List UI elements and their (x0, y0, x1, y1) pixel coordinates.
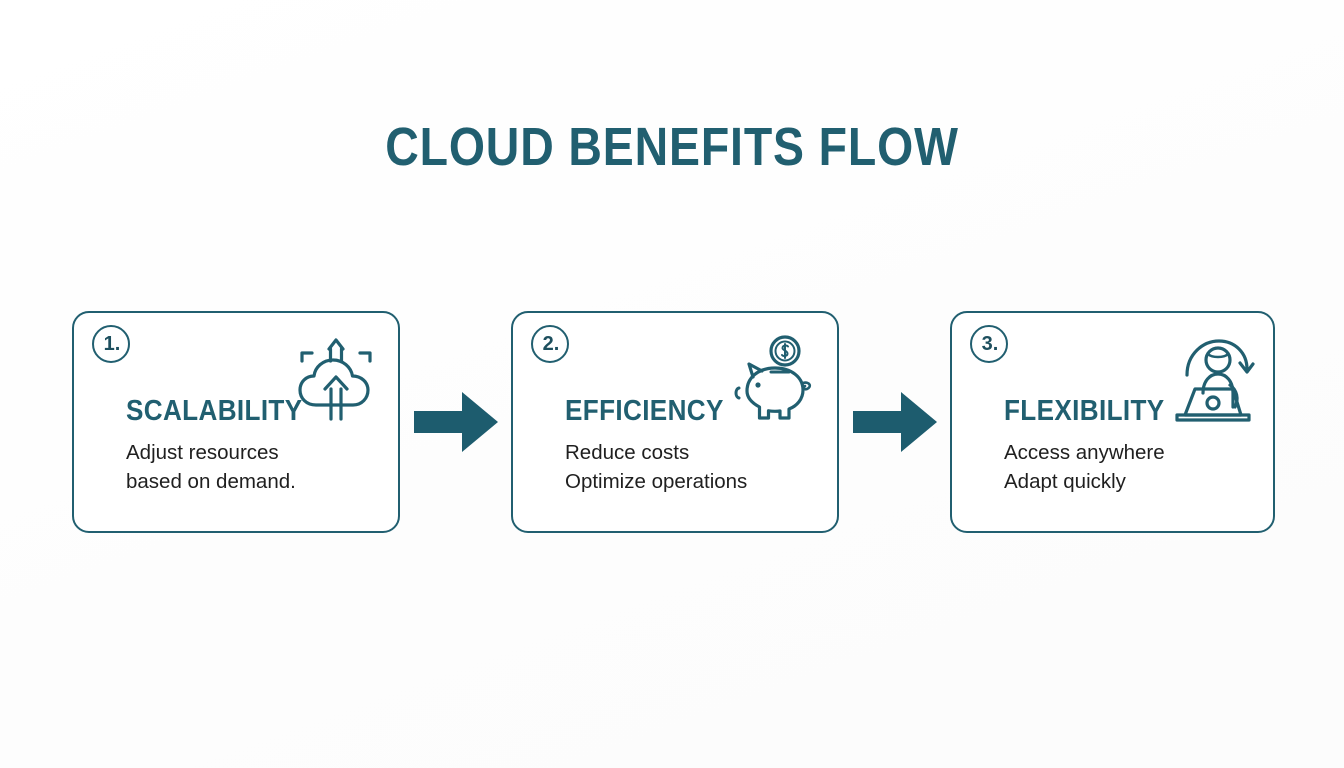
page-title: CLOUD BENEFITS FLOW (94, 116, 1250, 178)
step-number-badge: 3. (970, 325, 1008, 363)
step-heading: SCALABILITY (126, 396, 303, 426)
flow-step-card-2[interactable]: 2. EFFICIENCY (511, 311, 839, 533)
step-body-text: Adjust resources based on demand. (126, 438, 382, 496)
step-body-text: Reduce costs Optimize operations (565, 438, 821, 496)
flow-step-card-1[interactable]: 1. SCALABILITY (72, 311, 400, 533)
step-heading: EFFICIENCY (565, 396, 724, 426)
piggy-bank-coin-icon (727, 333, 823, 425)
slide-canvas: CLOUD BENEFITS FLOW 1. SCALABILITY (0, 0, 1344, 768)
flow-step-card-3[interactable]: 3. FLEXIBILITY (950, 311, 1275, 533)
step-number-badge: 2. (531, 325, 569, 363)
step-body-text: Access anywhere Adapt quickly (1004, 438, 1257, 496)
right-arrow-icon-1 (414, 389, 498, 455)
person-laptop-refresh-icon (1163, 333, 1259, 425)
flow-diagram: 1. SCALABILITY (72, 311, 1275, 533)
right-arrow-icon-2 (853, 389, 937, 455)
cloud-scale-up-icon (288, 333, 384, 425)
step-heading: FLEXIBILITY (1004, 396, 1165, 426)
step-number-badge: 1. (92, 325, 130, 363)
